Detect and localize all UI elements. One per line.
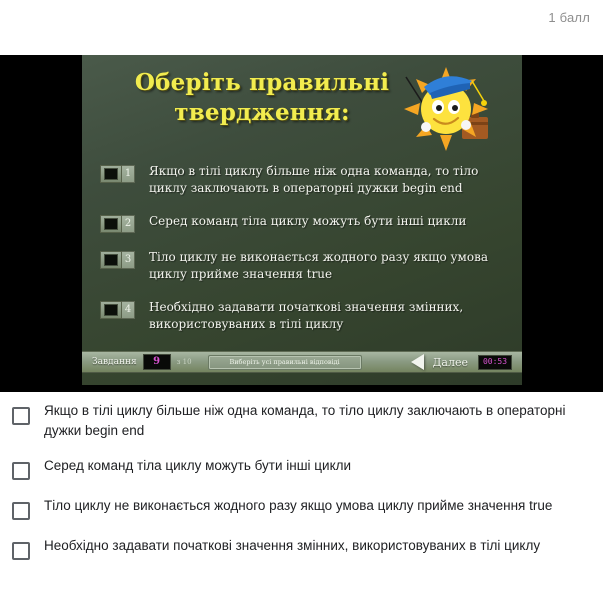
task-label: Завдання	[92, 357, 137, 367]
points-header: 1 балл	[0, 0, 603, 55]
checkbox-icon[interactable]	[12, 407, 30, 425]
task-hint: Виберіть усі правильні відповіді	[208, 355, 362, 370]
option-row[interactable]: Якщо в тілі циклу більше ніж одна команд…	[12, 401, 591, 440]
statement-list: 1 Якщо в тілі циклу більше ніж одна кома…	[100, 163, 510, 349]
timer-display: 00:53	[478, 355, 512, 370]
statement-text: Необхідно задавати початкові значення зм…	[149, 299, 510, 333]
option-row[interactable]: Серед команд тіла циклу можуть бути інші…	[12, 456, 591, 480]
statement-row: 1 Якщо в тілі циклу більше ніж одна кома…	[100, 163, 510, 197]
checkbox-square-icon	[100, 251, 122, 269]
presentation-slide: Оберіть правильні твердження:	[82, 55, 522, 385]
video-stage[interactable]: Оберіть правильні твердження:	[0, 55, 603, 392]
statement-number: 3	[122, 251, 135, 269]
answer-options: Якщо в тілі циклу більше ніж одна команд…	[0, 392, 603, 560]
statement-row: 4 Необхідно задавати початкові значення …	[100, 299, 510, 333]
statement-text: Серед команд тіла циклу можуть бути інші…	[149, 213, 466, 230]
option-label[interactable]: Серед команд тіла циклу можуть бути інші…	[44, 456, 351, 476]
statement-marker: 3	[100, 251, 135, 269]
option-label[interactable]: Тіло циклу не виконається жодного разу я…	[44, 496, 552, 516]
option-label[interactable]: Необхідно задавати початкові значення зм…	[44, 536, 540, 556]
statement-row: 2 Серед команд тіла циклу можуть бути ін…	[100, 213, 510, 233]
points-label: 1 балл	[548, 10, 590, 25]
statement-row: 3 Тіло циклу не виконається жодного разу…	[100, 249, 510, 283]
sun-graduate-icon	[400, 65, 498, 153]
option-row[interactable]: Тіло циклу не виконається жодного разу я…	[12, 496, 591, 520]
statement-number: 2	[122, 215, 135, 233]
checkbox-square-icon	[100, 301, 122, 319]
option-row[interactable]: Необхідно задавати початкові значення зм…	[12, 536, 591, 560]
task-number: 9	[143, 354, 171, 370]
statement-marker: 1	[100, 165, 135, 183]
option-label[interactable]: Якщо в тілі циклу більше ніж одна команд…	[44, 401, 584, 440]
statement-number: 4	[122, 301, 135, 319]
checkbox-square-icon	[100, 215, 122, 233]
checkbox-icon[interactable]	[12, 462, 30, 480]
slide-title: Оберіть правильні твердження:	[102, 68, 422, 129]
next-button[interactable]: Далее	[432, 356, 468, 369]
statement-text: Тіло циклу не виконається жодного разу я…	[149, 249, 510, 283]
statement-number: 1	[122, 165, 135, 183]
slide-toolbar: Завдання 9 з 10 Виберіть усі правильні в…	[82, 351, 522, 373]
statement-marker: 4	[100, 301, 135, 319]
checkbox-icon[interactable]	[12, 542, 30, 560]
task-total: з 10	[177, 358, 192, 366]
play-left-triangle-icon[interactable]	[411, 354, 424, 370]
statement-text: Якщо в тілі циклу більше ніж одна команд…	[149, 163, 510, 197]
checkbox-icon[interactable]	[12, 502, 30, 520]
checkbox-square-icon	[100, 165, 122, 183]
statement-marker: 2	[100, 215, 135, 233]
